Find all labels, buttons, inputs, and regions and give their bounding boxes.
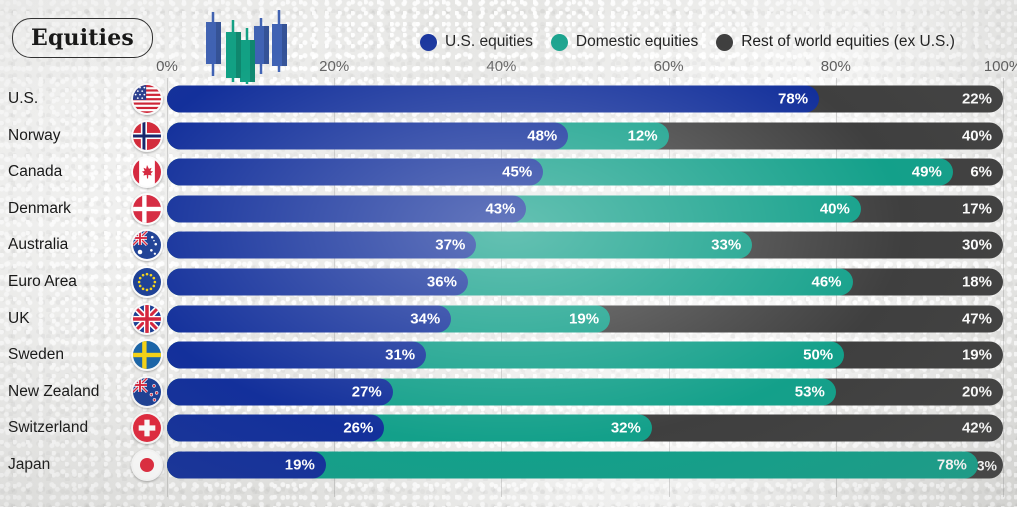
bar-value-label: 31%	[385, 347, 415, 364]
bar-value-label: 19%	[569, 310, 599, 327]
bar-segment-us[interactable]: 36%	[167, 269, 468, 296]
bar-value-label: 27%	[352, 383, 382, 400]
bar-value-label: 22%	[962, 91, 992, 108]
bar-row[interactable]: Euro Area 18%46%36%	[0, 265, 1017, 299]
bar-row[interactable]: Sweden 19%50%31%	[0, 338, 1017, 372]
stacked-bar-track: 30%33%37%	[0, 232, 1017, 259]
bar-row[interactable]: New Zealand 20%53%27%	[0, 375, 1017, 409]
bar-value-label: 30%	[962, 237, 992, 254]
bar-value-label: 12%	[628, 127, 658, 144]
bar-row[interactable]: Norway 40%12%48%	[0, 119, 1017, 153]
bar-value-label: 36%	[427, 274, 457, 291]
stacked-bar-track: 18%46%36%	[0, 269, 1017, 296]
bar-value-label: 37%	[435, 237, 465, 254]
bar-row[interactable]: Switzerland 42%32%26%	[0, 411, 1017, 445]
bar-value-label: 50%	[803, 347, 833, 364]
bar-segment-us[interactable]: 78%	[167, 86, 819, 113]
bar-value-label: 3%	[977, 457, 997, 473]
bar-row[interactable]: UK 47%19%34%	[0, 302, 1017, 336]
bar-value-label: 42%	[962, 420, 992, 437]
bar-value-label: 40%	[820, 200, 850, 217]
bar-row[interactable]: Australia 30%33%37%	[0, 228, 1017, 262]
bar-value-label: 78%	[778, 91, 808, 108]
bar-value-label: 20%	[962, 383, 992, 400]
bar-value-label: 43%	[485, 200, 515, 217]
bar-value-label: 32%	[611, 420, 641, 437]
bar-segment-us[interactable]: 26%	[167, 415, 384, 442]
stacked-bar-track: 19%50%31%	[0, 342, 1017, 369]
bar-value-label: 19%	[962, 347, 992, 364]
bar-value-label: 46%	[811, 274, 841, 291]
stacked-bar-track: 40%12%48%	[0, 122, 1017, 149]
bar-segment-us[interactable]: 19%	[167, 452, 326, 479]
bar-value-label: 47%	[962, 310, 992, 327]
bar-value-label: 48%	[527, 127, 557, 144]
stacked-bar-track: 20%53%27%	[0, 378, 1017, 405]
bar-value-label: 6%	[970, 164, 992, 181]
bar-segment-us[interactable]: 31%	[167, 342, 426, 369]
bar-row[interactable]: Japan3%78%19%	[0, 448, 1017, 482]
stacked-bar-track: 42%32%26%	[0, 415, 1017, 442]
stacked-bar-track: 6%49%45%	[0, 159, 1017, 186]
bar-segment-us[interactable]: 37%	[167, 232, 476, 259]
stacked-bar-track: 17%40%43%	[0, 195, 1017, 222]
bar-row[interactable]: Canada 6%49%45%	[0, 155, 1017, 189]
stacked-bar-track: 3%78%19%	[0, 452, 1017, 479]
bar-value-label: 17%	[962, 200, 992, 217]
stacked-bar-track: 47%19%34%	[0, 305, 1017, 332]
bar-row[interactable]: U.S. 22%78%	[0, 82, 1017, 116]
bar-value-label: 53%	[795, 383, 825, 400]
bar-value-label: 40%	[962, 127, 992, 144]
bar-value-label: 49%	[912, 164, 942, 181]
bar-segment-us[interactable]: 43%	[167, 195, 526, 222]
bar-value-label: 78%	[937, 457, 967, 474]
stacked-bar-track: 22%78%	[0, 86, 1017, 113]
bar-value-label: 19%	[285, 457, 315, 474]
bar-value-label: 33%	[711, 237, 741, 254]
bar-segment-us[interactable]: 45%	[167, 159, 543, 186]
bar-value-label: 18%	[962, 274, 992, 291]
bar-value-label: 26%	[343, 420, 373, 437]
bar-segment-us[interactable]: 27%	[167, 378, 393, 405]
bar-segment-us[interactable]: 48%	[167, 122, 568, 149]
bar-row[interactable]: Denmark 17%40%43%	[0, 192, 1017, 226]
bar-segment-us[interactable]: 34%	[167, 305, 451, 332]
bar-value-label: 34%	[410, 310, 440, 327]
bar-value-label: 45%	[502, 164, 532, 181]
